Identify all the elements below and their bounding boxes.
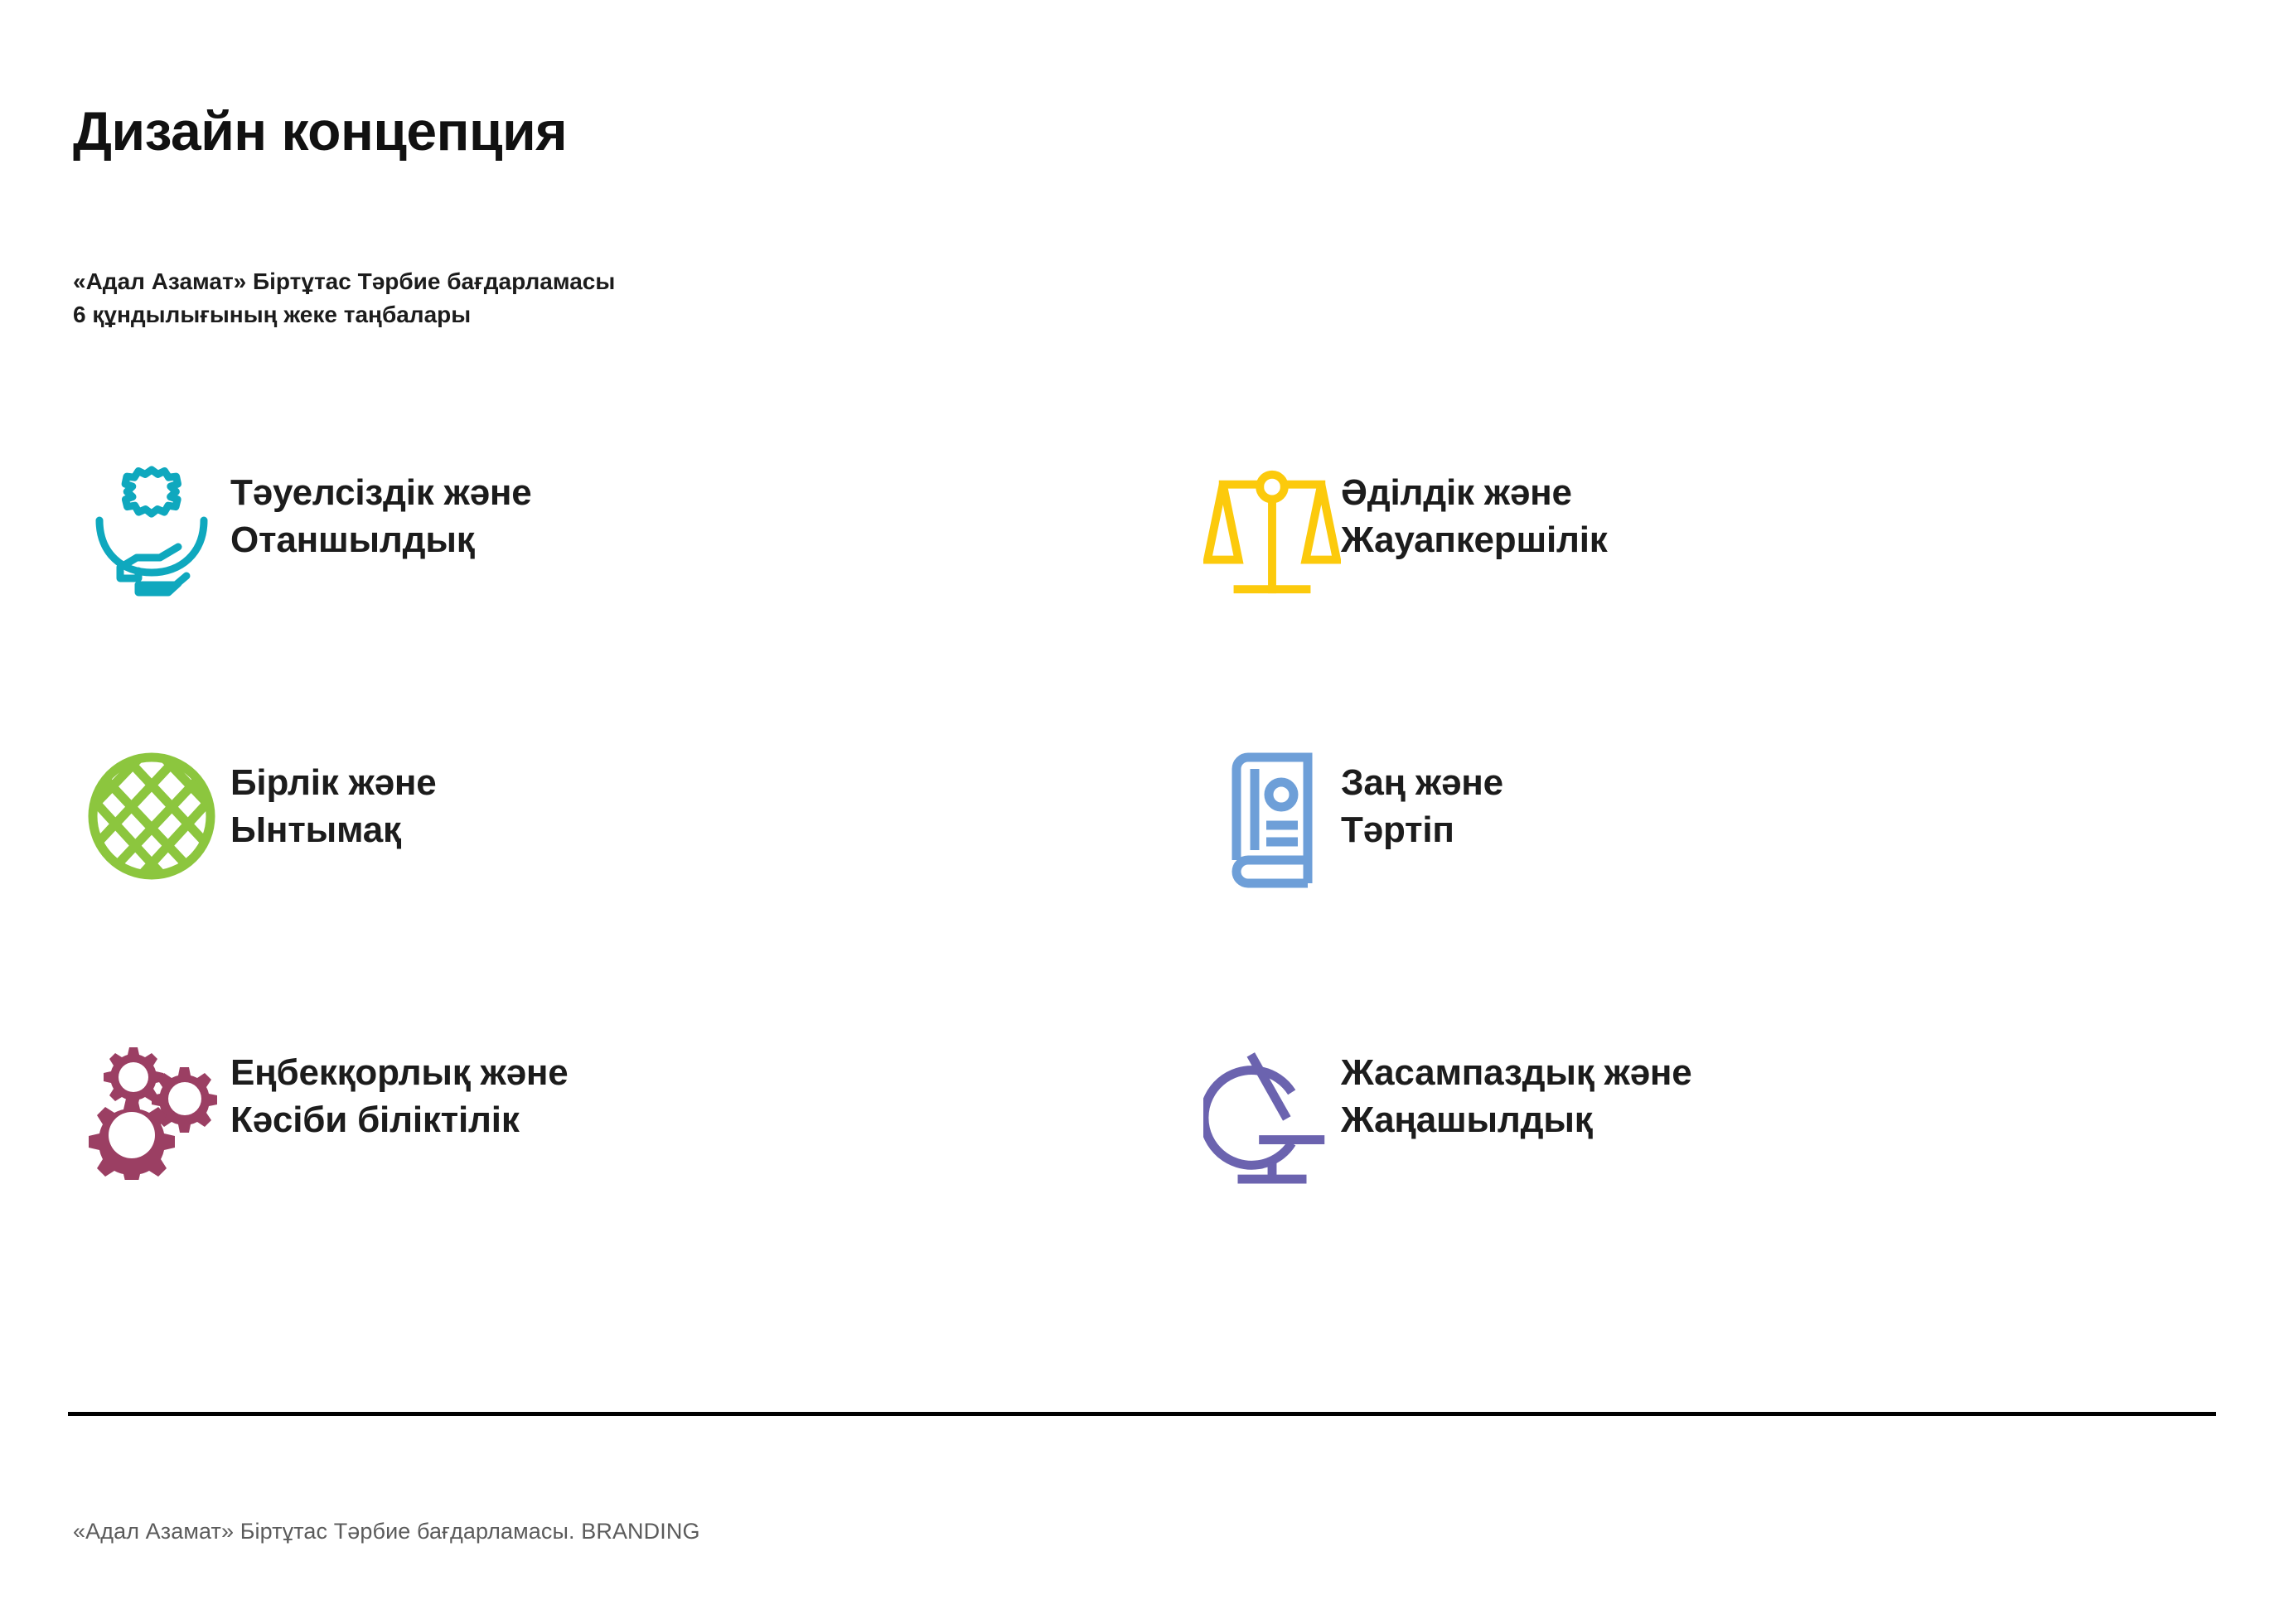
value-label: Еңбекқорлық және Кәсіби біліктілік (230, 1034, 569, 1143)
value-item-unity: Бірлік және Ынтымақ (73, 744, 1183, 1034)
law-book-icon (1183, 744, 1341, 893)
value-label: Әділдік және Жауапкершілік (1341, 454, 1608, 563)
value-item-justice: Әділдік және Жауапкершілік (1183, 454, 2284, 744)
value-item-independence: Тәуелсіздік және Отаншылдық (73, 454, 1183, 744)
slide-canvas: Дизайн концепция «Адал Азамат» Біртұтас … (0, 0, 2284, 1624)
footer-text: «Адал Азамат» Біртұтас Тәрбие бағдарлама… (73, 1519, 700, 1544)
gears-icon (73, 1034, 230, 1183)
value-label: Жасампаздық және Жаңашылдық (1341, 1034, 1692, 1143)
value-item-creativity: Жасампаздық және Жаңашылдық (1183, 1034, 2284, 1324)
microscope-icon (1183, 1034, 1341, 1183)
value-label: Тәуелсіздік және Отаншылдық (230, 454, 532, 563)
value-item-law: Заң және Тәртіп (1183, 744, 2284, 1034)
woven-circle-lattice-icon (73, 744, 230, 893)
balance-scales-icon (1183, 454, 1341, 603)
value-label: Заң және Тәртіп (1341, 744, 1503, 853)
page-title: Дизайн концепция (73, 101, 567, 162)
values-grid: Тәуелсіздік және Отаншылдық Әділд (73, 454, 2194, 1324)
footer-divider (68, 1412, 2216, 1416)
page-subtitle: «Адал Азамат» Біртұтас Тәрбие бағдарлама… (73, 265, 615, 331)
value-label: Бірлік және Ынтымақ (230, 744, 437, 853)
shanyrak-sun-cradle-icon (73, 454, 230, 603)
value-item-diligence: Еңбекқорлық және Кәсіби біліктілік (73, 1034, 1183, 1324)
